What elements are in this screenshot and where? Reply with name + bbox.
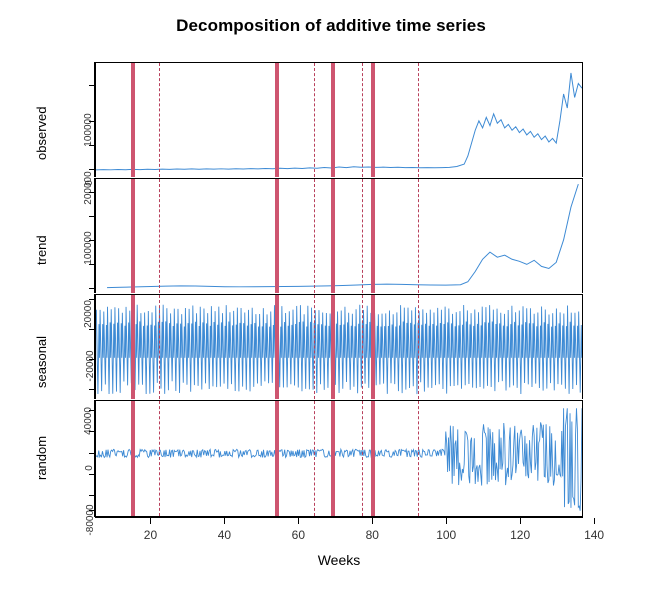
event-line-dashed-2 (362, 179, 363, 293)
event-line-dashed-0 (159, 63, 160, 177)
xtick-mark-80 (372, 518, 373, 524)
panel-trend-series (96, 179, 582, 293)
panel-observed-series (96, 63, 582, 177)
panel-observed (95, 62, 583, 177)
panel-random-series (96, 401, 582, 516)
xtick-label-20: 20 (144, 528, 157, 542)
event-line-dashed-0 (159, 179, 160, 293)
xtick-label-120: 120 (510, 528, 530, 542)
event-line-dashed-1 (314, 295, 315, 399)
xtick-mark-140 (594, 518, 595, 524)
event-line-dashed-3 (418, 295, 419, 399)
x-axis-line (95, 517, 583, 518)
event-line-solid-1 (275, 401, 279, 516)
event-line-dashed-2 (362, 63, 363, 177)
panel-random (95, 400, 583, 517)
event-line-solid-0 (131, 401, 135, 516)
event-line-dashed-3 (418, 179, 419, 293)
decomposition-plot: Decomposition of additive time series ob… (0, 0, 662, 596)
event-line-dashed-3 (418, 401, 419, 516)
event-line-solid-2 (331, 401, 335, 516)
xtick-mark-40 (224, 518, 225, 524)
xtick-mark-20 (150, 518, 151, 524)
event-line-dashed-1 (314, 63, 315, 177)
xtick-label-40: 40 (218, 528, 231, 542)
panel-stack (95, 62, 583, 517)
event-line-solid-3 (371, 295, 375, 399)
y-axis-label-observed: observed (34, 107, 49, 160)
y-axis-label-trend: trend (34, 235, 49, 265)
x-axis-label: Weeks (95, 552, 583, 568)
event-line-solid-0 (131, 179, 135, 293)
event-line-dashed-1 (314, 401, 315, 516)
y-axis-label-seasonal: seasonal (34, 336, 49, 388)
xtick-label-100: 100 (436, 528, 456, 542)
xtick-mark-60 (298, 518, 299, 524)
page-title: Decomposition of additive time series (0, 16, 662, 36)
xtick-label-80: 80 (366, 528, 379, 542)
event-line-dashed-0 (159, 295, 160, 399)
xtick-mark-120 (520, 518, 521, 524)
event-line-solid-1 (275, 179, 279, 293)
xtick-label-140: 140 (584, 528, 604, 542)
event-line-solid-3 (371, 179, 375, 293)
event-line-solid-1 (275, 63, 279, 177)
event-line-dashed-0 (159, 401, 160, 516)
y-axis-label-random: random (34, 436, 49, 480)
event-line-solid-2 (331, 63, 335, 177)
event-line-solid-0 (131, 295, 135, 399)
event-line-solid-3 (371, 401, 375, 516)
event-line-dashed-2 (362, 295, 363, 399)
event-line-solid-3 (371, 63, 375, 177)
event-line-dashed-2 (362, 401, 363, 516)
event-line-dashed-1 (314, 179, 315, 293)
panel-seasonal-series (96, 295, 582, 399)
xtick-label-60: 60 (292, 528, 305, 542)
event-line-solid-2 (331, 295, 335, 399)
panel-trend (95, 178, 583, 293)
panel-seasonal (95, 294, 583, 399)
event-line-solid-2 (331, 179, 335, 293)
xtick-mark-100 (446, 518, 447, 524)
event-line-dashed-3 (418, 63, 419, 177)
event-line-solid-1 (275, 295, 279, 399)
event-line-solid-0 (131, 63, 135, 177)
